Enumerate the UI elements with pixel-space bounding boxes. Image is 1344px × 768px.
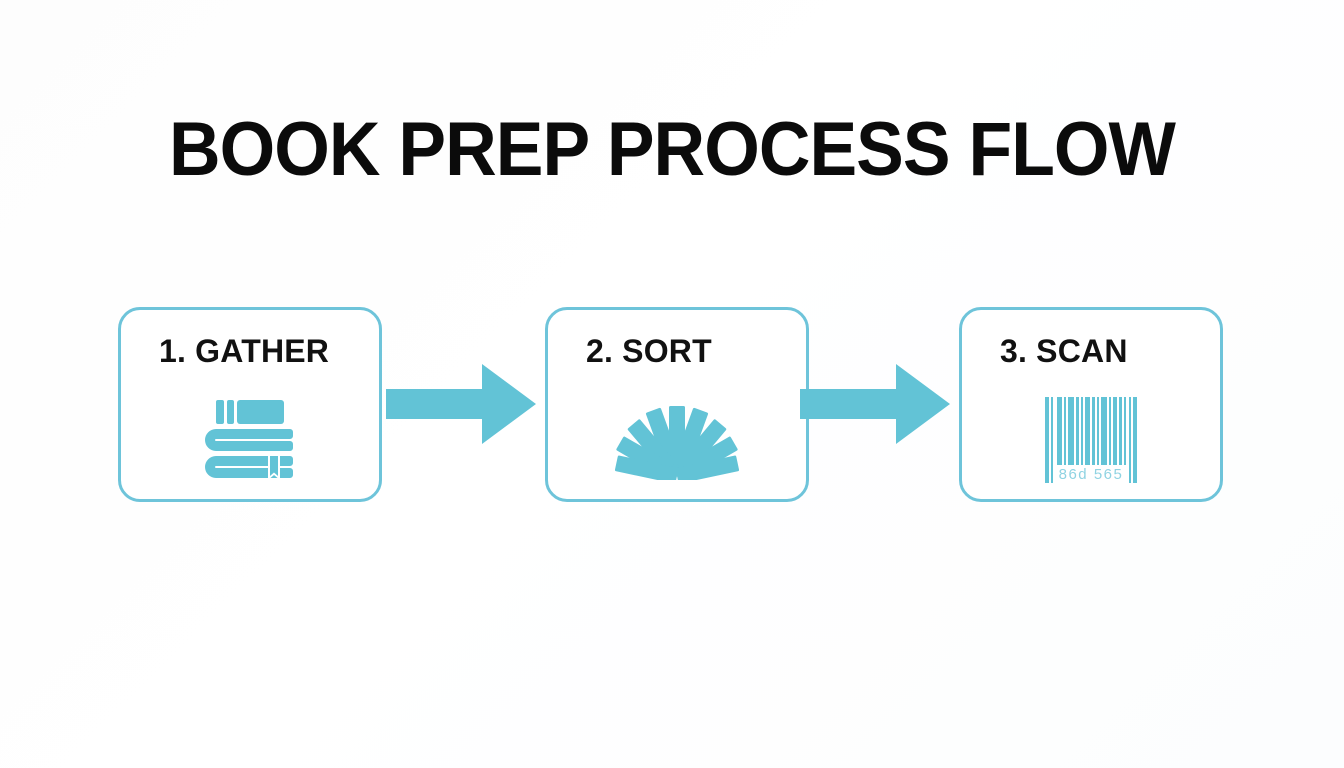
- process-flow-row: 1. GATHER: [118, 307, 1226, 508]
- barcode-icon: 86d 565: [962, 390, 1220, 490]
- barcode-digits: 86d 565: [1059, 466, 1124, 483]
- fanned-pages-icon: [548, 390, 806, 490]
- diagram-canvas: BOOK PREP PROCESS FLOW 1. GATHER: [0, 0, 1344, 768]
- process-step-card-scan[interactable]: 3. SCAN: [959, 307, 1223, 502]
- process-step-card-sort[interactable]: 2. SORT: [545, 307, 809, 502]
- step-label-sort: 2. SORT: [586, 333, 712, 369]
- page-title: BOOK PREP PROCESS FLOW: [40, 104, 1303, 196]
- stacked-books-icon: [121, 390, 379, 490]
- step-label-gather: 1. GATHER: [159, 333, 329, 369]
- right-arrow-icon-2: [800, 362, 950, 446]
- process-step-card-gather[interactable]: 1. GATHER: [118, 307, 382, 502]
- step-label-scan: 3. SCAN: [1000, 333, 1128, 369]
- right-arrow-icon-1: [386, 362, 536, 446]
